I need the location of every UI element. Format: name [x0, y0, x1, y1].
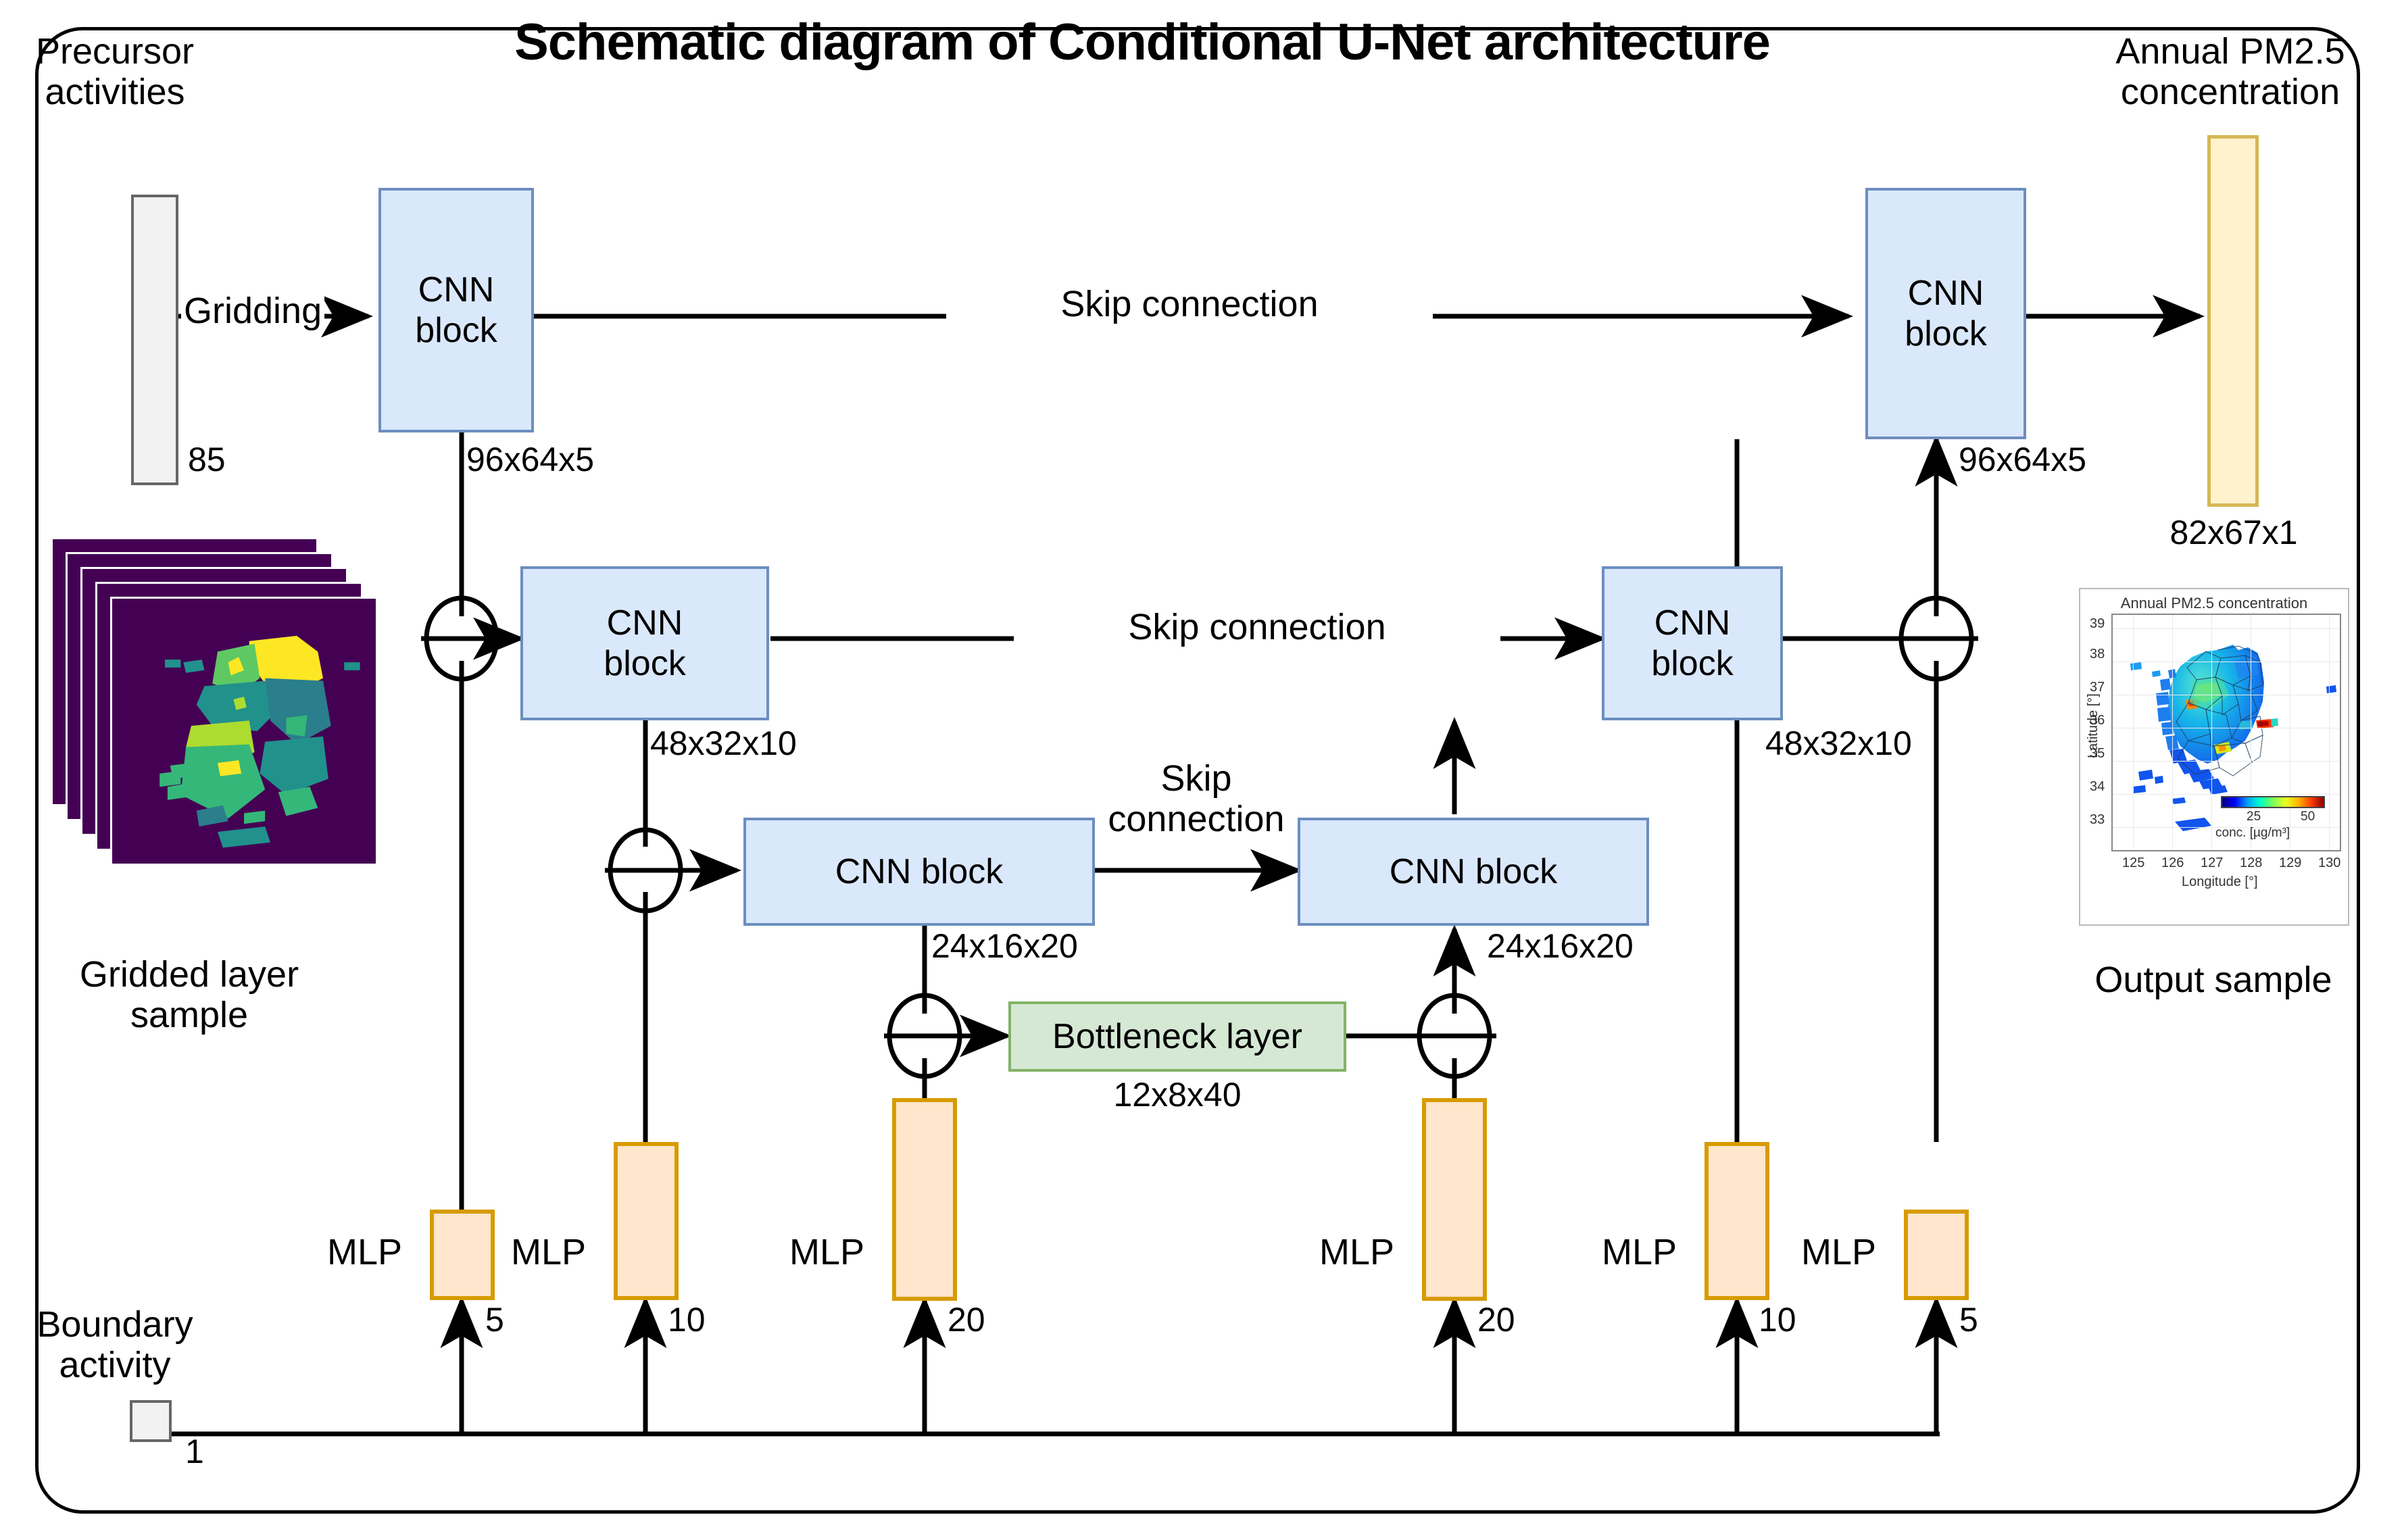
ytick-33: 33	[2090, 812, 2105, 828]
cnn-block-label: CNN block	[835, 851, 1004, 892]
gridded-layer-sample-label: Gridded layer sample	[47, 954, 331, 1036]
cnn-block-decoder-3[interactable]: CNN block	[1298, 818, 1649, 926]
ytick-39: 39	[2090, 616, 2105, 632]
bottleneck-label: Bottleneck layer	[1052, 1016, 1302, 1057]
mlp-box-3[interactable]	[892, 1098, 957, 1301]
inset-ylabel: Latitude [°]	[2086, 693, 2101, 758]
colorbar-tick-50: 50	[2301, 810, 2315, 824]
ytick-34: 34	[2090, 779, 2105, 795]
mlp-box-2[interactable]	[614, 1142, 679, 1300]
mlp-dim-2: 10	[668, 1301, 706, 1339]
cnn-block-encoder-3[interactable]: CNN block	[743, 818, 1095, 926]
inset-xlabel: Longitude [°]	[2182, 874, 2258, 890]
mlp-box-1[interactable]	[430, 1210, 495, 1300]
mlp-dim-3: 20	[948, 1301, 985, 1339]
ytick-38: 38	[2090, 647, 2105, 662]
cnn-enc-1-dim: 96x64x5	[466, 441, 594, 478]
precursor-activities-bar	[131, 195, 178, 485]
mlp-dim-4: 20	[1477, 1301, 1515, 1339]
cnn-block-decoder-1[interactable]: CNN block	[1865, 188, 2026, 439]
gridded-layer-stack	[53, 539, 418, 945]
boundary-dim-label: 1	[185, 1433, 204, 1470]
mlp-label-3: MLP	[789, 1232, 864, 1272]
output-bar	[2207, 135, 2259, 507]
mlp-dim-5: 10	[1759, 1301, 1796, 1339]
mlp-dim-1: 5	[485, 1301, 504, 1339]
cnn-block-label: CNN block	[604, 603, 685, 684]
xtick-128: 128	[2240, 855, 2262, 871]
gridded-layer-map	[112, 599, 376, 864]
colorbar-label: conc. [µg/m³]	[2215, 826, 2290, 841]
xtick-126: 126	[2161, 855, 2184, 871]
mlp-label-1: MLP	[327, 1232, 402, 1272]
cnn-enc-2-dim: 48x32x10	[650, 724, 797, 762]
cnn-dec-1-dim: 96x64x5	[1959, 441, 2086, 478]
diagram-canvas: Schematic diagram of Conditional U-Net a…	[0, 0, 2404, 1540]
boundary-activity-label: Boundary activity	[14, 1304, 216, 1386]
mlp-box-6[interactable]	[1904, 1210, 1969, 1300]
bottleneck-dim: 12x8x40	[1008, 1076, 1346, 1114]
xtick-127: 127	[2201, 855, 2223, 871]
cnn-dec-2-dim: 48x32x10	[1765, 724, 1912, 762]
skip-connection-label-2: Skip connection	[1014, 607, 1500, 647]
skip-connection-label-1: Skip connection	[946, 284, 1433, 324]
bottleneck-layer[interactable]: Bottleneck layer	[1008, 1001, 1346, 1072]
colorbar	[2221, 796, 2325, 808]
mlp-dim-6: 5	[1959, 1301, 1978, 1339]
colorbar-tick-25: 25	[2247, 810, 2261, 824]
precursor-activities-label: Precursor activities	[14, 31, 216, 113]
boundary-activity-box	[130, 1400, 172, 1442]
mlp-label-4: MLP	[1319, 1232, 1394, 1272]
cnn-enc-3-dim: 24x16x20	[931, 927, 1078, 965]
mlp-label-2: MLP	[511, 1232, 586, 1272]
cnn-block-label: CNN block	[415, 270, 497, 351]
output-sample-label: Output sample	[2068, 960, 2359, 1000]
inset-chart-title: Annual PM2.5 concentration	[2080, 595, 2348, 612]
output-sample-inset: Annual PM2.5 concentration 33 34 35 36 3…	[2079, 588, 2349, 926]
cnn-dec-3-dim: 24x16x20	[1487, 927, 1634, 965]
xtick-125: 125	[2122, 855, 2144, 871]
cnn-block-label: CNN block	[1390, 851, 1558, 892]
gridding-label: Gridding	[181, 291, 324, 331]
mlp-box-5[interactable]	[1704, 1142, 1769, 1300]
precursor-dim-label: 85	[188, 441, 226, 478]
page-title: Schematic diagram of Conditional U-Net a…	[311, 14, 1973, 71]
cnn-block-decoder-2[interactable]: CNN block	[1602, 566, 1783, 720]
cnn-block-encoder-1[interactable]: CNN block	[378, 188, 534, 432]
output-dim-label: 82x67x1	[2129, 514, 2338, 551]
cnn-block-encoder-2[interactable]: CNN block	[520, 566, 769, 720]
xtick-129: 129	[2279, 855, 2301, 871]
annual-pm25-label: Annual PM2.5 concentration	[2095, 31, 2365, 113]
mlp-box-4[interactable]	[1422, 1098, 1487, 1301]
inset-plot-area: 25 50 conc. [µg/m³]	[2111, 614, 2341, 851]
cnn-block-label: CNN block	[1651, 603, 1733, 684]
mlp-label-6: MLP	[1801, 1232, 1876, 1272]
skip-connection-label-3: Skip connection	[1102, 758, 1291, 840]
cnn-block-label: CNN block	[1905, 273, 1986, 354]
xtick-130: 130	[2318, 855, 2340, 871]
mlp-label-5: MLP	[1602, 1232, 1677, 1272]
